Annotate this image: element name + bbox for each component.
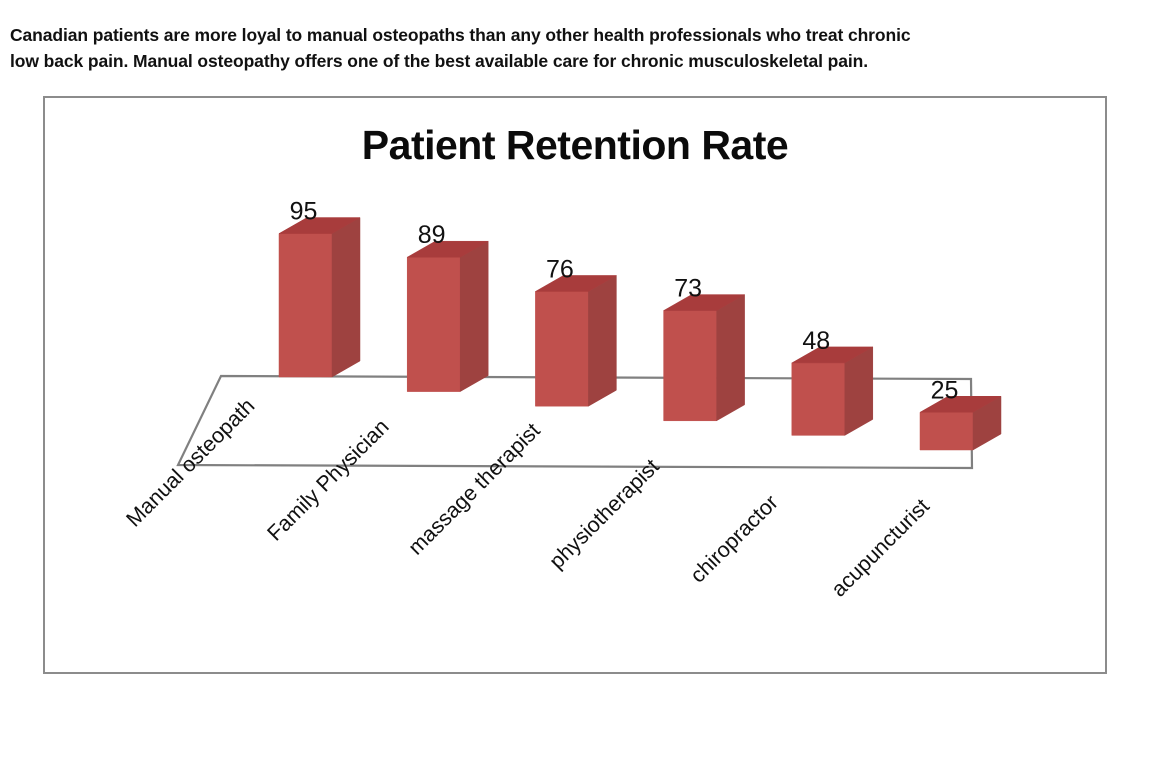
bar-front-face — [792, 363, 845, 435]
bar-front-face — [279, 234, 332, 377]
category-label-4: physiotherapist — [545, 454, 664, 573]
value-label-4: 73 — [674, 275, 702, 303]
value-label-3: 76 — [546, 255, 574, 283]
chart-frame: Patient Retention Rate 958976734825 Manu… — [43, 96, 1107, 674]
screenshot-page: Canadian patients are more loyal to manu… — [0, 0, 1155, 765]
bar-1[interactable] — [279, 218, 360, 377]
bar-front-face — [920, 412, 973, 450]
bar-side-face — [332, 218, 360, 377]
bar-side-face — [460, 241, 488, 391]
caption-text: Canadian patients are more loyal to manu… — [10, 22, 1120, 74]
value-label-5: 48 — [802, 327, 830, 355]
category-label-5: chiropractor — [686, 490, 783, 587]
category-label-6: acupuncturist — [827, 494, 934, 601]
caption-line-1: Canadian patients are more loyal to manu… — [10, 22, 1120, 48]
chart-plot-area: 958976734825 Manual osteopathFamily Phys… — [45, 98, 1105, 672]
bar-4[interactable] — [664, 295, 745, 421]
value-label-2: 89 — [418, 221, 446, 249]
bar-5[interactable] — [792, 347, 873, 435]
bar-front-face — [664, 311, 717, 421]
value-label-1: 95 — [290, 198, 318, 226]
bar-front-face — [535, 291, 588, 406]
bar-3[interactable] — [535, 275, 616, 406]
bar-front-face — [407, 257, 460, 391]
bar-side-face — [717, 295, 745, 421]
bar-2[interactable] — [407, 241, 488, 391]
caption-line-2: low back pain. Manual osteopathy offers … — [10, 48, 1120, 74]
bar-side-face — [588, 275, 616, 406]
value-label-6: 25 — [931, 376, 959, 404]
